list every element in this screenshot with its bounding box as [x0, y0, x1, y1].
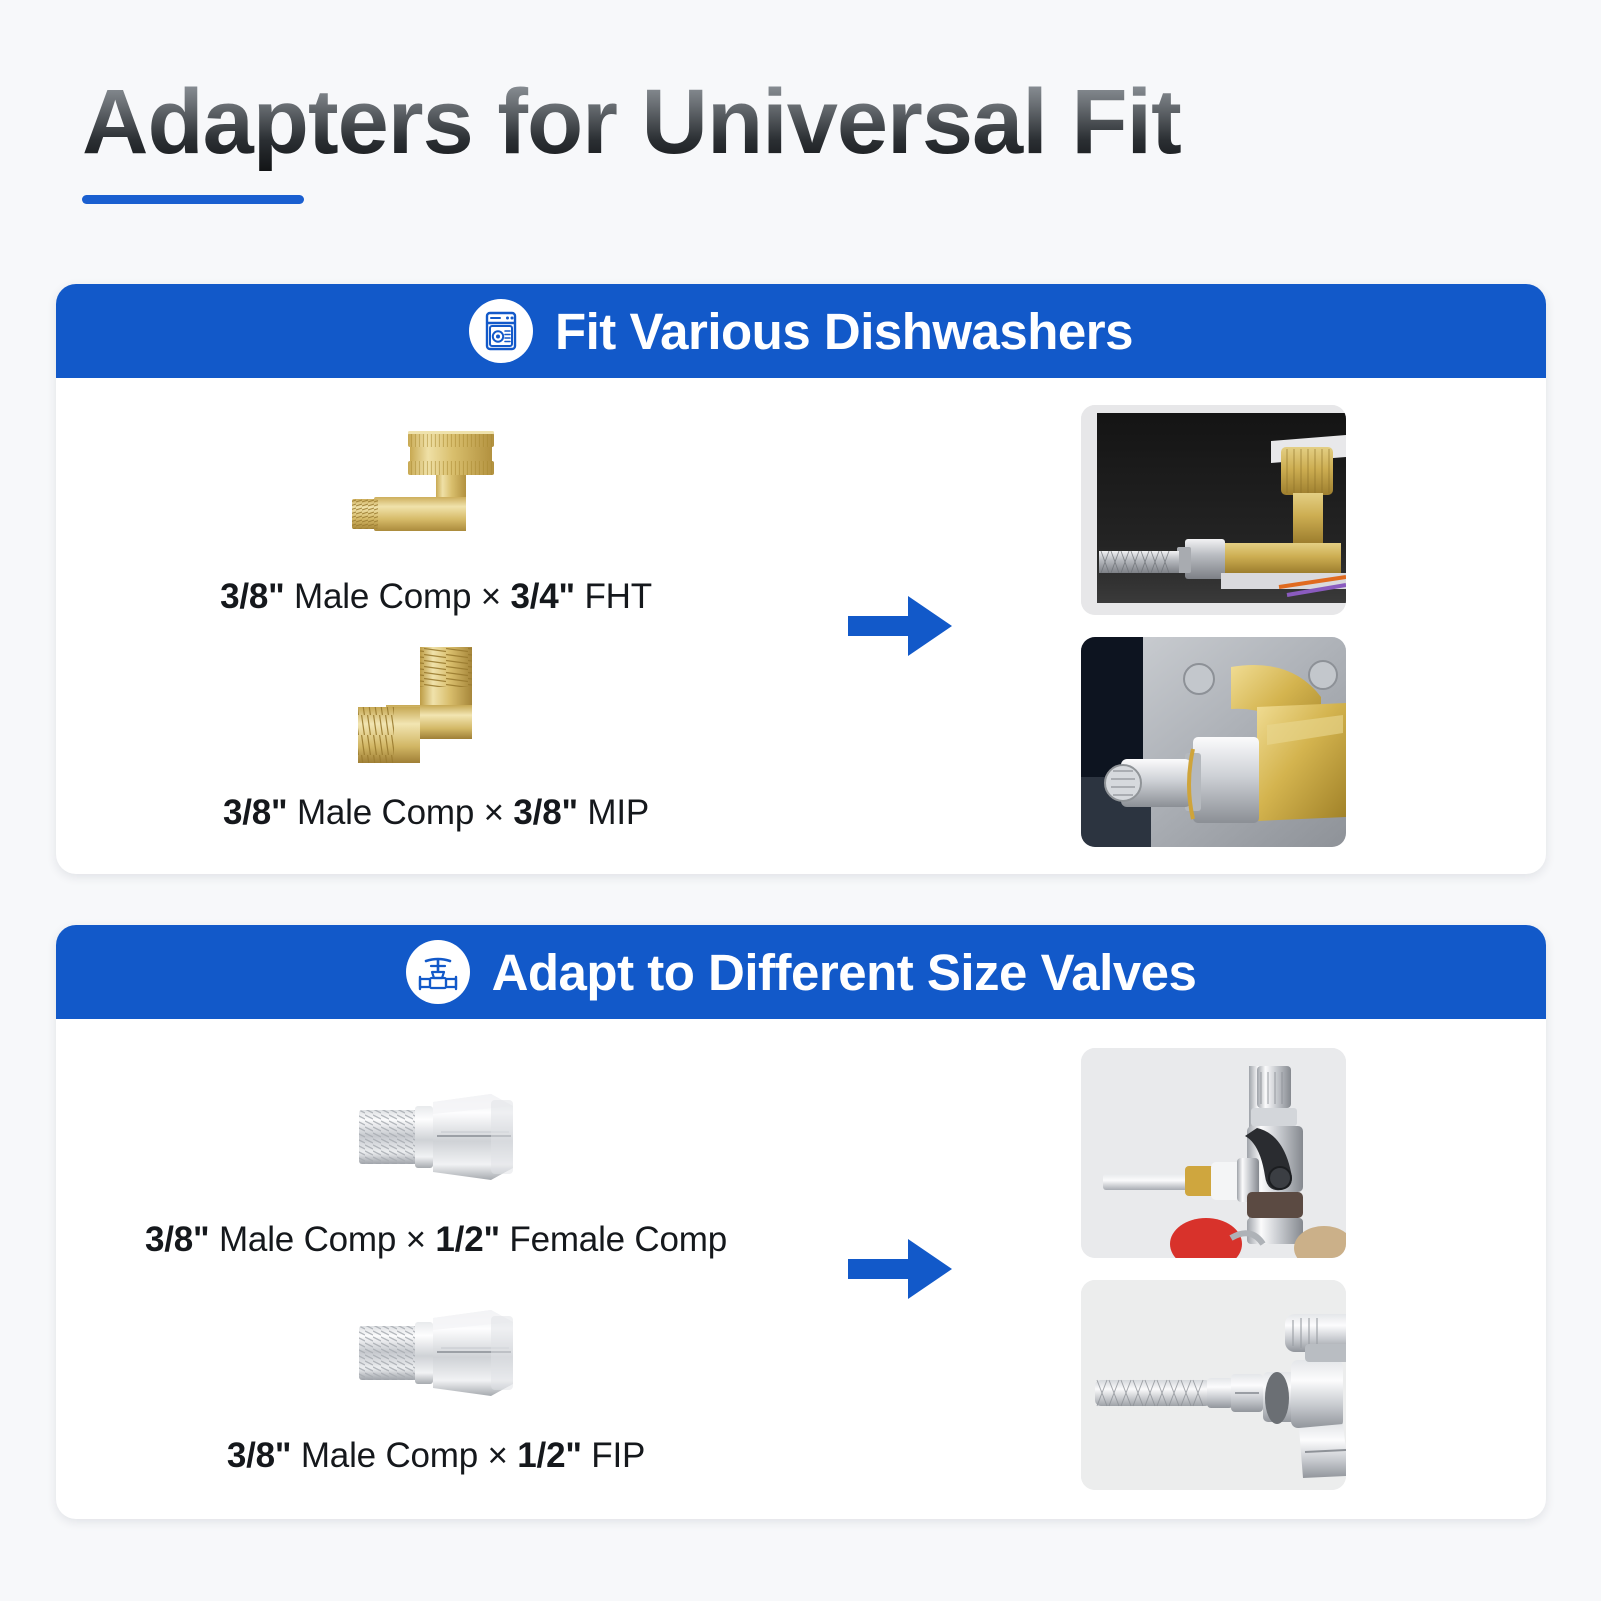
product-label: 3/8" Male Comp × 1/2" FIP — [227, 1436, 645, 1476]
product-label-size-1: 3/8" — [227, 1436, 291, 1475]
section-card-valves: Adapt to Different Size Valves — [56, 925, 1546, 1519]
product-label-mid-1: Male Comp × — [209, 1220, 435, 1259]
photo-brass-elbow-installed-under-dishwasher — [1081, 405, 1346, 615]
product-label: 3/8" Male Comp × 3/4" FHT — [220, 577, 652, 617]
title-block: Adapters for Universal Fit — [82, 74, 1181, 204]
product-label: 3/8" Male Comp × 1/2" Female Comp — [145, 1220, 727, 1260]
product-label-mid-1: Male Comp × — [287, 793, 513, 832]
product-label-size-2: 3/8" — [513, 793, 577, 832]
page-title: Adapters for Universal Fit — [82, 74, 1181, 171]
product-label-size-1: 3/8" — [223, 793, 287, 832]
brass-90-degree-male-elbow-image — [336, 635, 536, 785]
photo-chrome-ball-valve-assembly — [1081, 1048, 1346, 1258]
blue-right-arrow-icon — [846, 590, 956, 662]
product-list-valves: 3/8" Male Comp × 1/2" Female Comp — [56, 1019, 816, 1519]
product-item: 3/8" Male Comp × 1/2" Female Comp — [56, 1062, 816, 1260]
product-label-size-1: 3/8" — [220, 577, 284, 616]
dishwasher-icon — [469, 299, 533, 363]
product-label: 3/8" Male Comp × 3/8" MIP — [223, 793, 649, 833]
product-label-end-1: Female Comp — [500, 1220, 727, 1259]
product-label-end-1: FIP — [582, 1436, 645, 1475]
brass-90-degree-elbow-with-swivel-nut-image — [326, 419, 546, 569]
photo-brass-elbow-on-dishwasher-inlet — [1081, 637, 1346, 847]
product-label-size-2: 3/4" — [511, 577, 575, 616]
product-list-dishwashers: 3/8" Male Comp × 3/4" FHT — [56, 378, 816, 874]
product-item: 3/8" Male Comp × 3/4" FHT — [56, 419, 816, 617]
section-title-valves: Adapt to Different Size Valves — [492, 943, 1197, 1002]
chrome-straight-adapter-hex-nut-image — [341, 1278, 531, 1428]
photo-list-valves — [1081, 1048, 1346, 1490]
photo-list-dishwashers — [1081, 405, 1346, 847]
product-label-end-1: FHT — [575, 577, 652, 616]
product-label-mid-1: Male Comp × — [285, 577, 511, 616]
gate-valve-icon — [406, 940, 470, 1004]
infographic-page: Adapters for Universal Fit — [0, 0, 1601, 1601]
photo-braided-hose-to-angle-stop-valve — [1081, 1280, 1346, 1490]
section-card-dishwashers: Fit Various Dishwashers — [56, 284, 1546, 874]
product-item: 3/8" Male Comp × 3/8" MIP — [56, 635, 816, 833]
title-underline — [82, 195, 304, 204]
section-body-valves: 3/8" Male Comp × 1/2" Female Comp — [56, 1019, 1546, 1519]
blue-right-arrow-icon — [846, 1233, 956, 1305]
product-label-mid-1: Male Comp × — [291, 1436, 517, 1475]
product-label-size-2: 1/2" — [517, 1436, 581, 1475]
section-title-dishwashers: Fit Various Dishwashers — [555, 302, 1133, 361]
product-label-size-2: 1/2" — [435, 1220, 499, 1259]
section-body-dishwashers: 3/8" Male Comp × 3/4" FHT — [56, 378, 1546, 874]
section-header-valves: Adapt to Different Size Valves — [56, 925, 1546, 1019]
product-label-size-1: 3/8" — [145, 1220, 209, 1259]
chrome-straight-adapter-hex-nut-image — [341, 1062, 531, 1212]
section-header-dishwashers: Fit Various Dishwashers — [56, 284, 1546, 378]
product-item: 3/8" Male Comp × 1/2" FIP — [56, 1278, 816, 1476]
product-label-end-1: MIP — [578, 793, 649, 832]
